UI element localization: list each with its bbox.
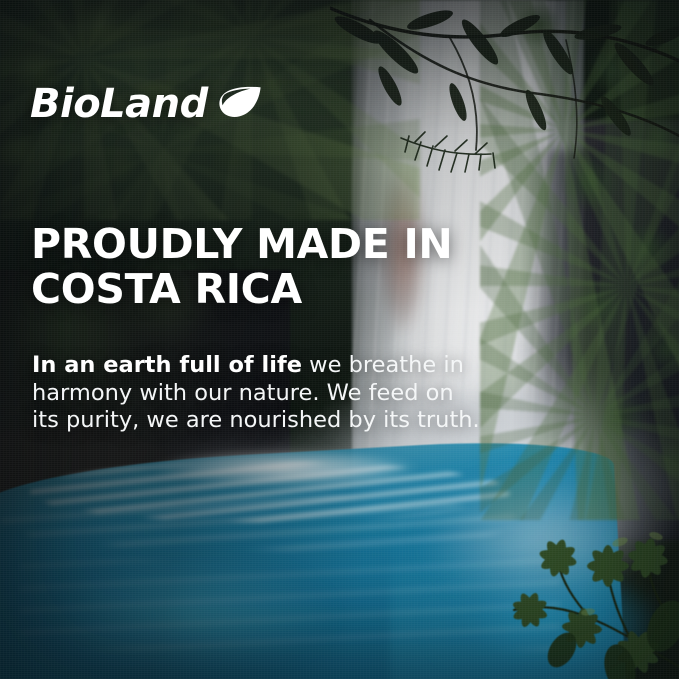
page-title: PROUDLY MADE IN COSTA RICA: [31, 222, 501, 312]
poster-canvas: BioLand PROUDLY MADE IN COSTA RICA In an…: [0, 0, 679, 679]
brand-wordmark: BioLand: [30, 84, 208, 124]
brand-logo: BioLand: [30, 84, 262, 124]
headline-line-2: COSTA RICA: [31, 267, 501, 312]
body-copy-lead: In an earth full of life: [32, 352, 302, 378]
body-copy: In an earth full of life we breathe in h…: [32, 352, 482, 435]
headline-line-1: PROUDLY MADE IN: [31, 222, 501, 267]
leaf-icon: [216, 85, 262, 124]
content-overlay: BioLand PROUDLY MADE IN COSTA RICA In an…: [0, 0, 679, 679]
